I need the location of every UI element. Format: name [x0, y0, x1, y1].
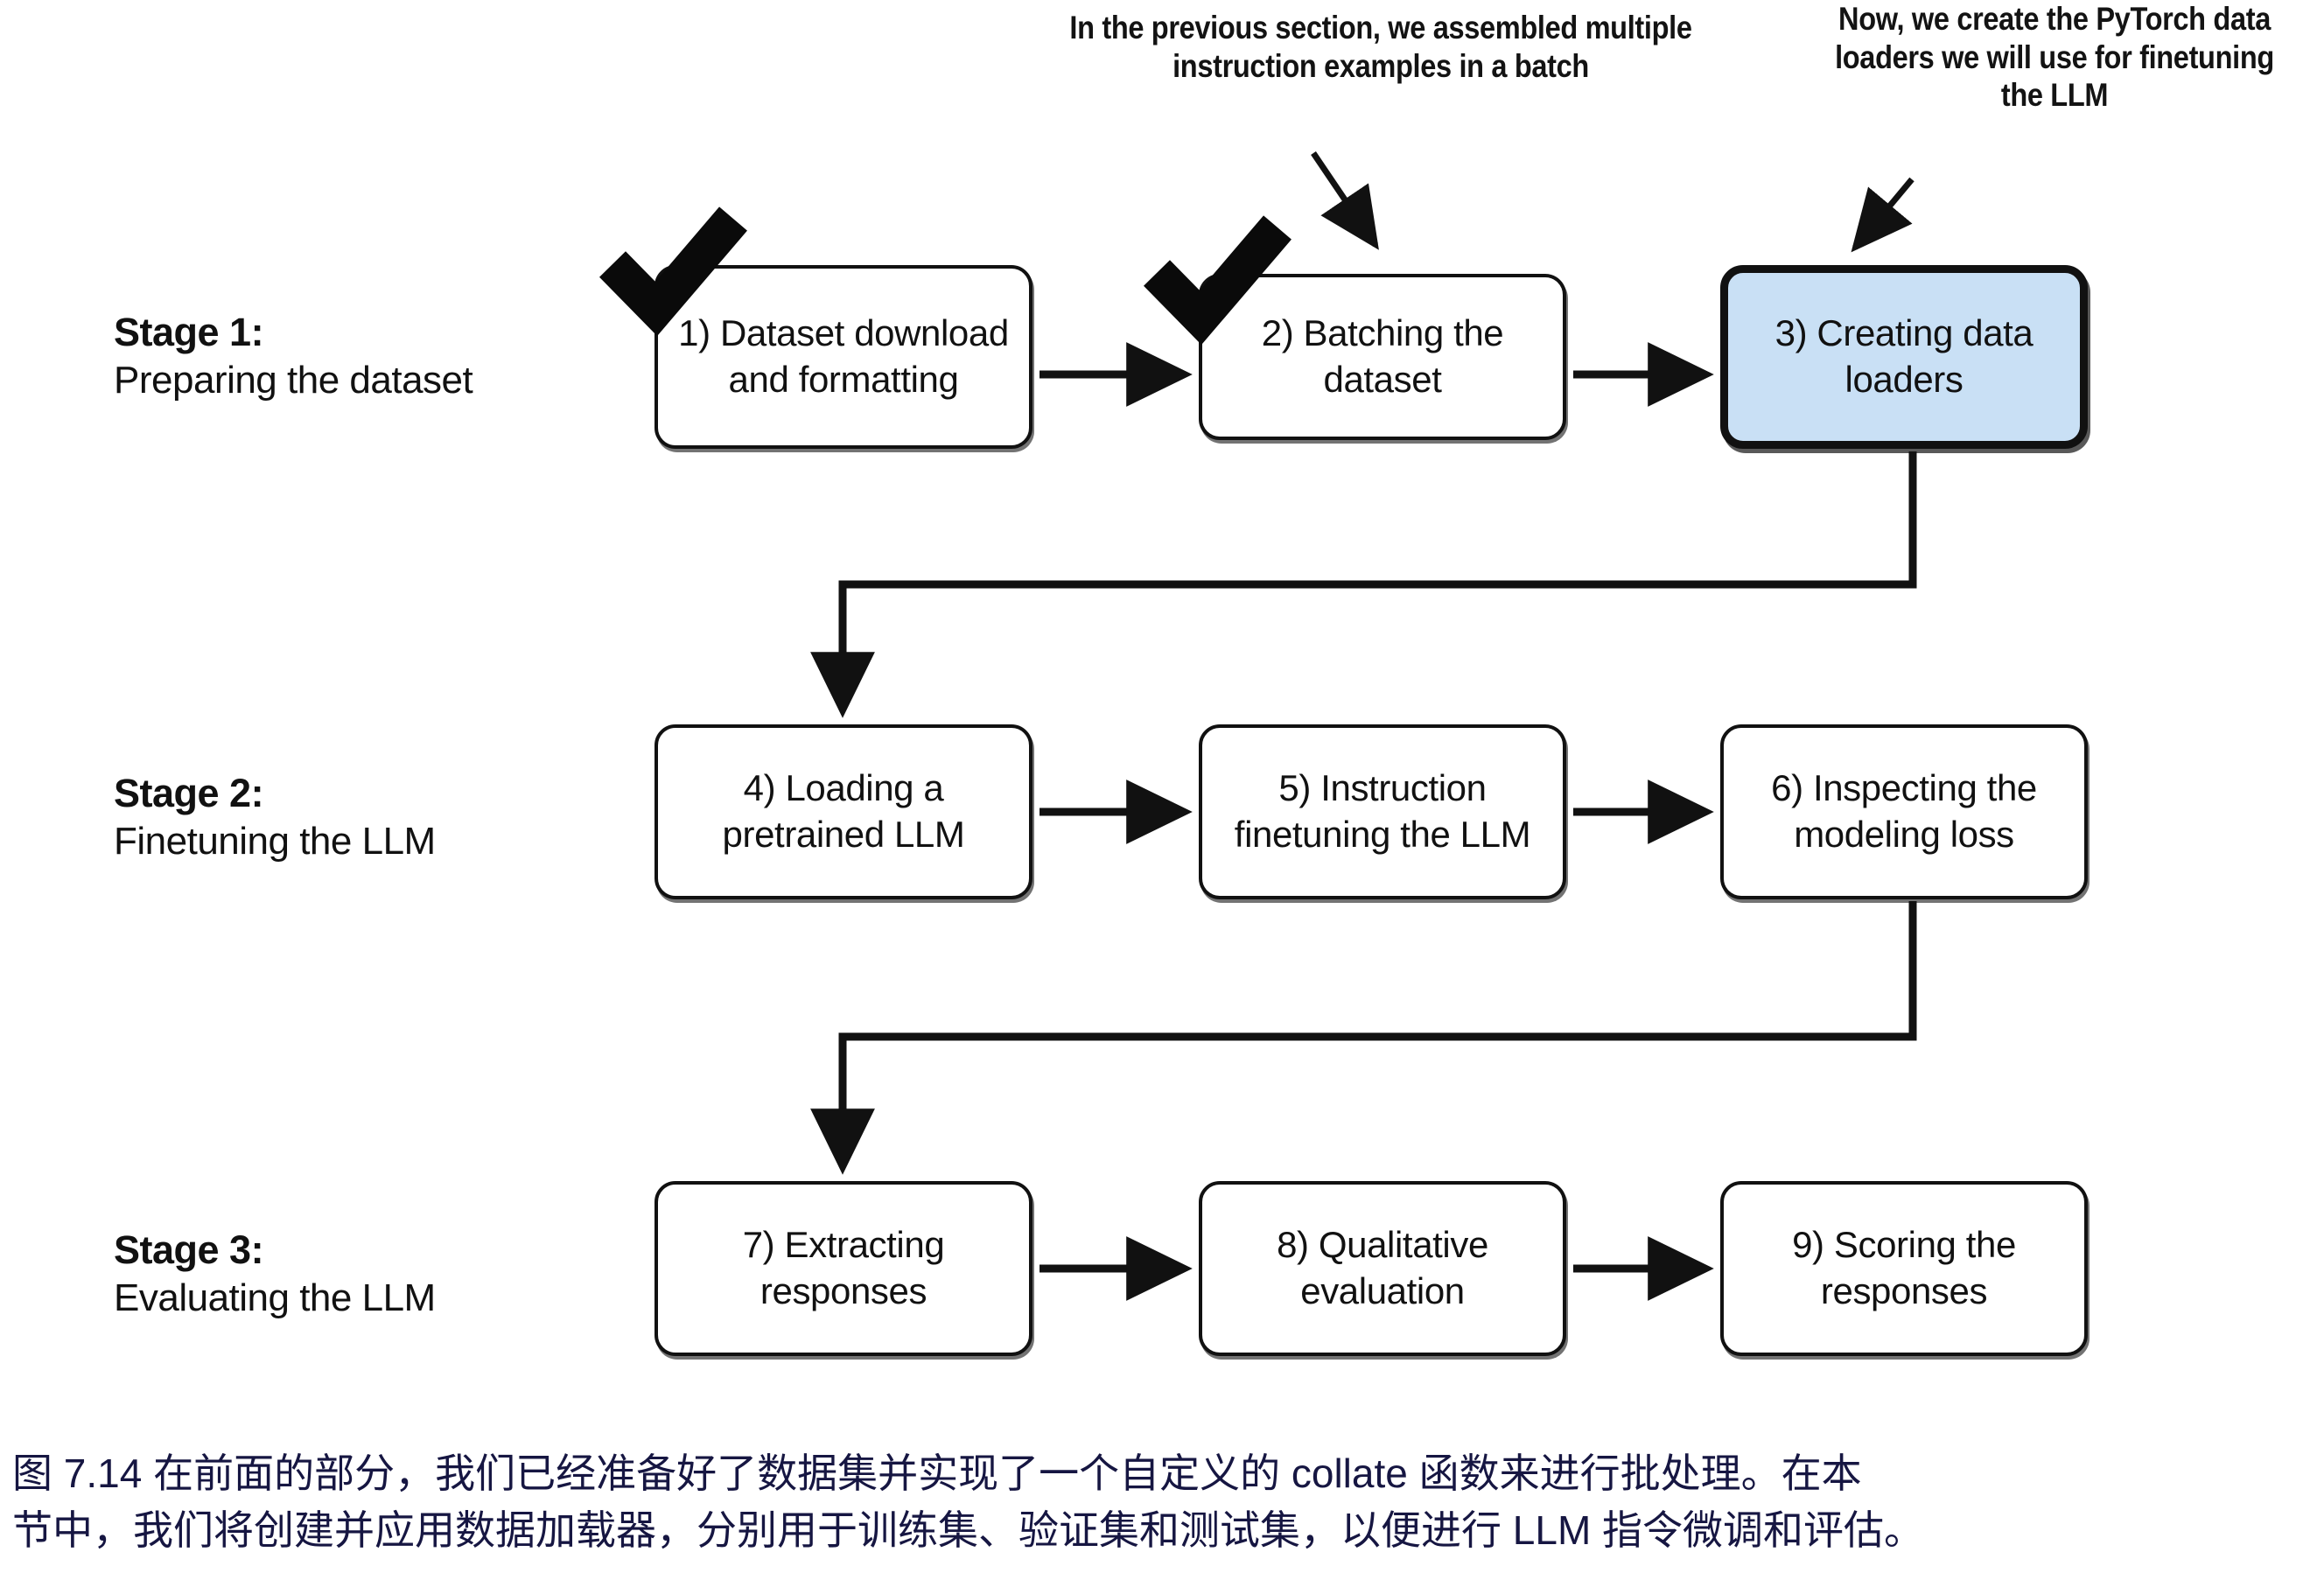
stage-3-subtitle: Evaluating the LLM — [114, 1275, 436, 1322]
stage-1-subtitle: Preparing the dataset — [114, 357, 472, 404]
stage-label-1: Stage 1: Preparing the dataset — [114, 309, 472, 404]
stage-2-subtitle: Finetuning the LLM — [114, 818, 436, 865]
figure-caption-line-1: 图 7.14 在前面的部分，我们已经准备好了数据集并实现了一个自定义的 coll… — [12, 1445, 2315, 1502]
flow-node-4-loading-pretrained-llm[interactable]: 4) Loading a pretrained LLM — [654, 724, 1032, 899]
flow-node-3-creating-data-loaders[interactable]: 3) Creating data loaders — [1720, 265, 2088, 449]
annotation-dataloaders-note: Now, we create the PyTorch data loaders … — [1817, 0, 2292, 115]
connector-stage2-to-stage3 — [843, 901, 1913, 1165]
stage-2-title: Stage 2: — [114, 770, 436, 818]
flow-node-5-instruction-finetuning[interactable]: 5) Instruction finetuning the LLM — [1199, 724, 1566, 899]
callout-arrow-to-node3 — [1855, 179, 1912, 248]
flow-node-2-batching-dataset[interactable]: 2) Batching the dataset — [1199, 274, 1566, 440]
stage-label-2: Stage 2: Finetuning the LLM — [114, 770, 436, 865]
figure-flowchart: In the previous section, we assembled mu… — [0, 0, 2324, 1587]
stage-1-title: Stage 1: — [114, 309, 472, 357]
connector-stage1-to-stage2 — [843, 451, 1913, 709]
annotation-batching-note: In the previous section, we assembled mu… — [996, 9, 1766, 85]
stage-3-title: Stage 3: — [114, 1227, 436, 1275]
flow-node-9-scoring-responses[interactable]: 9) Scoring the responses — [1720, 1181, 2088, 1356]
figure-caption-line-2: 节中，我们将创建并应用数据加载器，分别用于训练集、验证集和测试集，以便进行 LL… — [12, 1502, 2315, 1559]
figure-caption: 图 7.14 在前面的部分，我们已经准备好了数据集并实现了一个自定义的 coll… — [12, 1445, 2315, 1560]
flow-node-8-qualitative-evaluation[interactable]: 8) Qualitative evaluation — [1199, 1181, 1566, 1356]
flow-node-1-dataset-download[interactable]: 1) Dataset download and formatting — [654, 265, 1032, 449]
stage-label-3: Stage 3: Evaluating the LLM — [114, 1227, 436, 1322]
flow-node-6-inspecting-modeling-loss[interactable]: 6) Inspecting the modeling loss — [1720, 724, 2088, 899]
flow-node-7-extracting-responses[interactable]: 7) Extracting responses — [654, 1181, 1032, 1356]
callout-arrow-to-node2 — [1313, 153, 1375, 245]
